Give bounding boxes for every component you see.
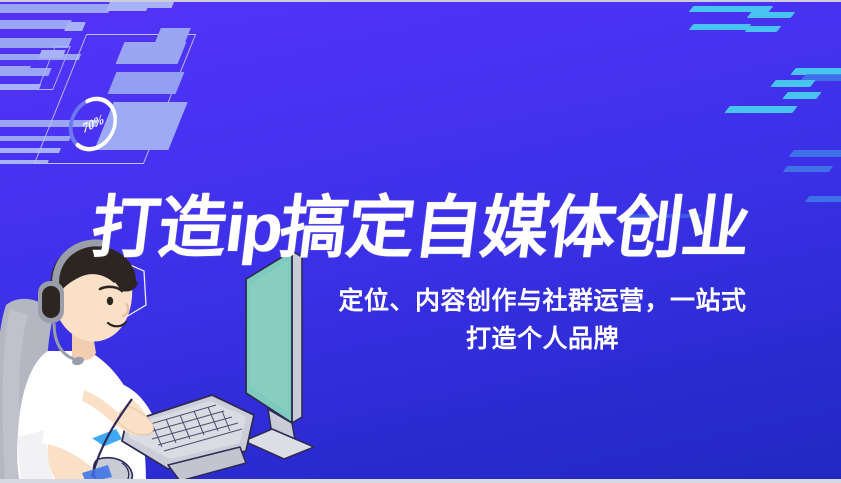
page-subtitle-line-2: 打造个人品牌 <box>262 320 823 358</box>
deco-block <box>116 42 187 64</box>
diagonal-bar <box>0 20 72 29</box>
page-title-part-2: 搞定自媒体创业 <box>276 190 754 266</box>
accent-streak <box>689 24 752 30</box>
accent-streak <box>747 12 796 18</box>
deco-block <box>108 72 185 94</box>
accent-streak <box>770 80 815 87</box>
page-title-latin: ip <box>221 190 285 266</box>
top-edge-strip <box>0 0 841 2</box>
accent-streak <box>788 150 841 157</box>
diagonal-bar <box>64 22 86 31</box>
accent-streak <box>782 92 821 99</box>
page-title: 打造ip搞定自媒体创业 <box>0 194 841 262</box>
deco-block <box>155 28 191 42</box>
accent-streak <box>724 106 797 113</box>
course-banner: 70% <box>0 0 841 483</box>
accent-streak <box>783 166 834 172</box>
page-title-part-1: 打造 <box>87 190 230 266</box>
page-subtitle: 定位、内容创作与社群运营，一站式 打造个人品牌 <box>262 282 823 358</box>
accent-streak <box>745 26 782 32</box>
diagonal-bar <box>0 84 41 90</box>
hero-illustration <box>0 233 326 483</box>
diagonal-bar <box>0 4 112 13</box>
page-subtitle-line-1: 定位、内容创作与社群运营，一站式 <box>338 287 746 315</box>
bottom-edge-strip <box>0 479 841 483</box>
